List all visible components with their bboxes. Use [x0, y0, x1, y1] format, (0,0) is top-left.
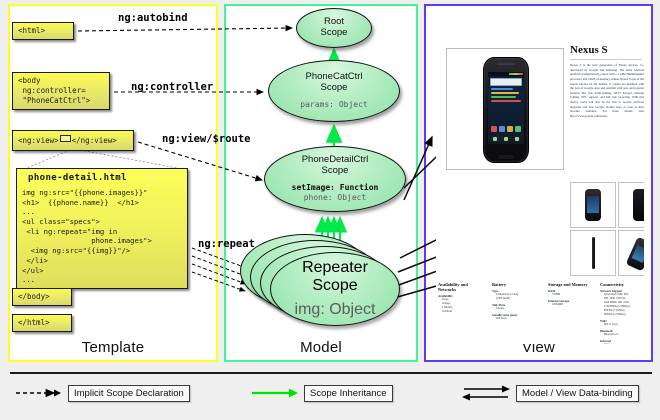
legend-green-arrow-icon	[250, 386, 298, 400]
spec-header-storage: Storage and Memory	[548, 282, 596, 287]
scope-repeater: Repeater Scope img: Object	[270, 252, 400, 326]
spec-header-connectivity: Connectivity	[600, 282, 644, 287]
thumb-edge-art	[592, 237, 595, 269]
scope-repeater-prop-img: img: Object	[295, 301, 376, 319]
legend-item-implicit-scope-declaration: Implicit Scope Declaration	[14, 380, 190, 406]
scope-root: Root Scope	[296, 8, 372, 48]
phone-screen	[488, 72, 524, 144]
phone-detail-filename: phone-detail.html	[22, 172, 182, 188]
code-box-phone-detail: phone-detail.htmlimg ng:src="{{phone.ima…	[16, 168, 188, 289]
phone-search-widget	[490, 78, 522, 86]
edge-label-ng-controller: ng:controller	[131, 81, 213, 93]
spec-table: Availability and Networks Availability T…	[438, 282, 644, 344]
phone-device-illustration	[483, 57, 529, 163]
spec-value-battery-type: Lithium Ion (Li-Ion) (1500 mAH)	[492, 293, 542, 301]
edge-label-ng-view-route: ng:view/$route	[162, 133, 251, 145]
phone-app-icons-row	[490, 126, 522, 132]
phone-nav-icon-3	[515, 137, 519, 141]
ngview-open-tag: <ng:view>	[18, 136, 59, 145]
view-page-title-rule	[570, 59, 642, 60]
legend-item-model-view-data-binding: Model / View Data-binding	[462, 380, 639, 406]
phone-screen-line-4	[491, 100, 521, 102]
thumbnail-phone-angle[interactable]	[618, 230, 644, 276]
legend-divider	[10, 372, 652, 374]
code-box-ngview: <ng:view></ng:view>	[12, 130, 134, 151]
scope-phonedetailctrl-prop-setimage: setImage: Function	[292, 183, 379, 193]
spec-value-bluetooth: Bluetooth 2.1	[600, 333, 644, 337]
phone-screen-line-1	[491, 88, 513, 90]
legend-double-arrow-icon	[462, 384, 510, 402]
thumbnail-phone-edge[interactable]	[570, 230, 616, 276]
spec-header-battery: Battery	[492, 282, 542, 287]
spec-value-talk-time: 6 hours	[492, 307, 542, 311]
legend-item-scope-inheritance: Scope Inheritance	[250, 380, 393, 406]
spec-value-ram: 512MB	[548, 293, 596, 297]
ngview-placeholder-rect	[60, 135, 71, 142]
phone-nav-icon-2	[504, 137, 508, 141]
legend-dashed-arrow-icon	[14, 386, 62, 400]
scope-phonecatctrl-prop-params: params: Object	[300, 100, 367, 110]
panel-model-label: Model	[226, 339, 416, 356]
phone-app-icon-2	[499, 126, 505, 132]
spec-value-internal-storage: 16384MB	[548, 303, 596, 307]
spec-value-infrared: false	[600, 343, 644, 344]
phone-detail-source: img ng:src="{{phone.images}}" <h1> {{pho…	[22, 188, 182, 285]
scope-phonedetailctrl-prop-phone: phone: Object	[304, 193, 367, 203]
spec-value-network-support: Quad-band GSM: 850, 900, 1800, 1900 Tri-…	[600, 293, 644, 317]
spec-value-availability: Three, Orange, T-Mobile, Vodafone	[438, 298, 486, 314]
scope-phonedetailctrl: PhoneDetailCtrl Scope setImage: Function…	[264, 146, 406, 212]
scope-phonecatctrl: PhoneCatCtrl Scope params: Object	[268, 60, 400, 122]
spec-column-battery: Battery Type Lithium Ion (Li-Ion) (1500 …	[492, 282, 542, 321]
edge-label-ng-autobind: ng:autobind	[118, 12, 188, 24]
legend-label-model-view-data-binding: Model / View Data-binding	[516, 385, 639, 402]
phone-screen-line-2	[491, 92, 519, 94]
phone-home-button	[498, 155, 514, 159]
view-page-description: Nexus S is the next generation of Nexus …	[570, 63, 644, 119]
phone-nav-bar	[490, 136, 522, 142]
thumbnail-phone-back[interactable]	[618, 182, 644, 228]
thumb-angle-art	[626, 237, 644, 272]
legend: Implicit Scope Declaration Scope Inherit…	[10, 380, 652, 410]
thumb-back-art	[633, 189, 644, 221]
diagram-canvas: Template Model View	[0, 0, 660, 420]
scope-repeater-stack: Repeater Scope img: Object	[240, 224, 400, 334]
scope-repeater-line2: Scope	[312, 277, 357, 295]
phone-app-icon-4	[515, 126, 521, 132]
view-page-title: Nexus S	[570, 44, 608, 56]
legend-label-implicit-scope-declaration: Implicit Scope Declaration	[68, 385, 190, 402]
spec-column-availability: Availability and Networks Availability T…	[438, 282, 486, 314]
spec-column-connectivity: Connectivity Network Support Quad-band G…	[600, 282, 644, 344]
spec-header-availability: Availability and Networks	[438, 282, 486, 292]
spec-column-storage: Storage and Memory RAM 512MB Internal St…	[548, 282, 596, 307]
phone-app-icon-1	[491, 126, 497, 132]
phone-hero-image	[446, 48, 564, 170]
phone-app-icon-3	[507, 126, 513, 132]
scope-phonedetailctrl-line2: Scope	[322, 166, 349, 177]
scope-phonecatctrl-line2: Scope	[321, 83, 348, 94]
spec-value-wifi: 802.11 b/g/n	[600, 323, 644, 327]
scope-repeater-line1: Repeater	[302, 259, 368, 277]
rendered-view-page: Nexus S Nexus S is the next generation o…	[436, 14, 644, 344]
ngview-close-tag: </ng:view>	[72, 136, 117, 145]
legend-label-scope-inheritance: Scope Inheritance	[304, 385, 393, 402]
code-box-html-close: </html>	[12, 314, 72, 332]
code-box-body-open: <body ng:controller= "PhoneCatCtrl">	[12, 72, 110, 110]
thumb-front-art	[585, 189, 601, 221]
phone-speaker	[497, 63, 515, 65]
thumbnail-phone-front[interactable]	[570, 182, 616, 228]
phone-nav-icon-1	[493, 137, 497, 141]
panel-template-label: Template	[10, 339, 216, 356]
code-box-body-close: </body>	[12, 288, 72, 306]
scope-root-line2: Scope	[321, 28, 348, 39]
code-box-html-open: <html>	[12, 22, 74, 40]
phone-screen-line-3	[491, 96, 516, 98]
phone-status-bar	[488, 72, 524, 76]
spec-value-standby: 428 hours	[492, 317, 542, 321]
